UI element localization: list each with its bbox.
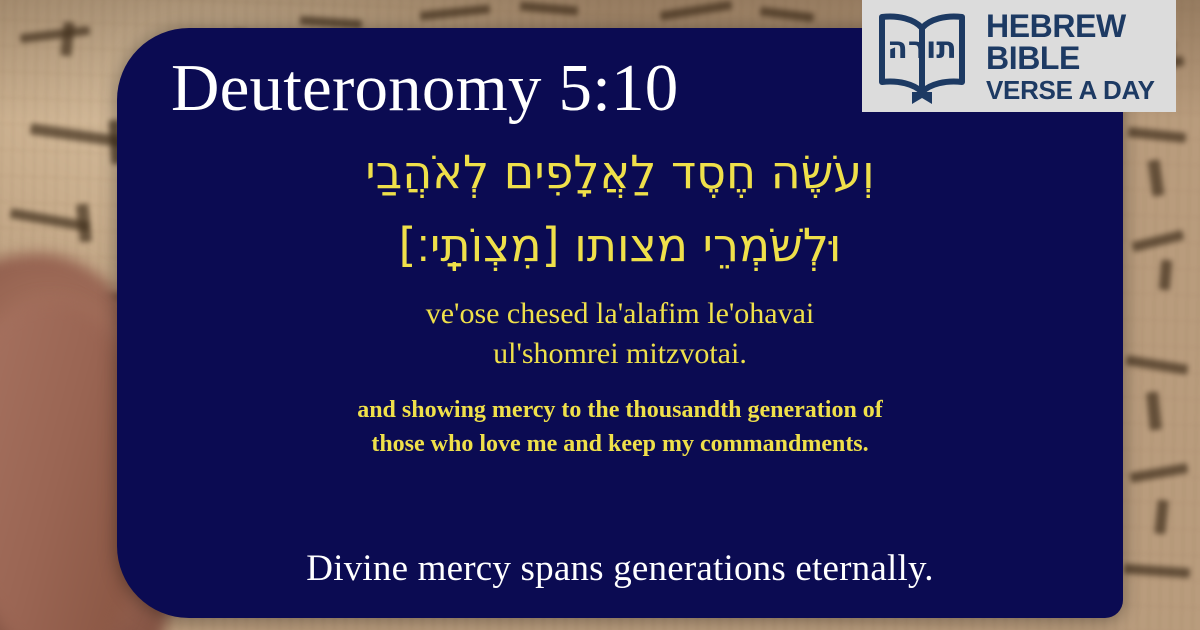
verse-reference: Deuteronomy 5:10 (151, 54, 678, 122)
hebrew-line-1: וְעֹשֶׂה חֶסֶד לַאֲלָפִים לְאֹהֲבַי (151, 136, 1089, 209)
transliteration-text: ve'ose chesed la'alafim le'ohavai ul'sho… (151, 294, 1089, 375)
translation-line-1: and showing mercy to the thousandth gene… (151, 393, 1089, 428)
logo-wordmark: HEBREW BIBLE VERSE A DAY (986, 10, 1155, 103)
transliteration-line-2: ul'shomrei mitzvotai. (151, 334, 1089, 375)
brand-logo[interactable]: תורה HEBREW BIBLE VERSE A DAY (862, 0, 1176, 112)
torah-word: תורה (887, 31, 956, 66)
open-book-icon: תורה (870, 6, 974, 106)
hebrew-text: וְעֹשֶׂה חֶסֶד לַאֲלָפִים לְאֹהֲבַי וּלְ… (151, 136, 1089, 281)
hebrew-line-2: וּלְשֹׁמְרֵי מצותו [מִצְוֺתָֽי׃] (151, 209, 1089, 282)
tagline: Divine mercy spans generations eternally… (117, 547, 1123, 590)
verse-graphic: Deuteronomy 5:10 וְעֹשֶׂה חֶסֶד לַאֲלָפִ… (0, 0, 1200, 630)
logo-line-hebrew: HEBREW (986, 10, 1155, 42)
logo-line-verse-a-day: VERSE A DAY (986, 77, 1155, 103)
logo-line-bible: BIBLE (986, 42, 1155, 74)
transliteration-line-1: ve'ose chesed la'alafim le'ohavai (151, 294, 1089, 335)
translation-text: and showing mercy to the thousandth gene… (151, 393, 1089, 463)
translation-line-2: those who love me and keep my commandmen… (151, 427, 1089, 462)
verse-card: Deuteronomy 5:10 וְעֹשֶׂה חֶסֶד לַאֲלָפִ… (117, 28, 1123, 618)
